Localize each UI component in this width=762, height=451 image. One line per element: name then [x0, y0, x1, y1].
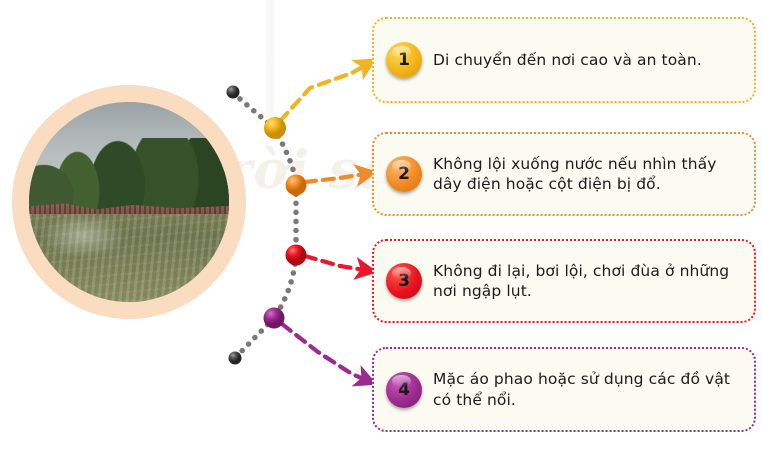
tip-number-badge-1: 1	[386, 42, 422, 78]
infographic-canvas: trời sáng tạo	[0, 0, 762, 451]
arrow-to-item-1	[280, 62, 371, 121]
arrow-to-item-4	[282, 324, 371, 382]
tip-card-3[interactable]: 3 Không đi lại, bơi lội, chơi đùa ở nhữn…	[372, 239, 756, 323]
tip-text-2: Không lội xuống nước nếu nhìn thấy dây đ…	[433, 154, 740, 195]
chain-node-4	[264, 308, 285, 329]
tip-number-badge-4: 4	[386, 372, 422, 408]
tip-number-badge-3: 3	[386, 263, 422, 299]
tip-card-2[interactable]: 2 Không lội xuống nước nếu nhìn thấy dây…	[372, 132, 756, 216]
tip-card-1[interactable]: 1 Di chuyển đến nơi cao và an toàn.	[372, 17, 756, 103]
tip-text-1: Di chuyển đến nơi cao và an toàn.	[433, 50, 702, 70]
chain-endpoint-top-node	[227, 86, 240, 99]
chain-node-1	[264, 117, 286, 139]
tip-text-4: Mặc áo phao hoặc sử dụng các đồ vật có t…	[433, 369, 740, 410]
arrow-to-item-2	[305, 173, 371, 182]
chain-node-2	[286, 175, 307, 196]
chain-node-3	[286, 245, 307, 266]
chain-endpoint-bottom-node	[229, 352, 242, 365]
arrow-to-item-3	[305, 256, 371, 271]
tip-text-3: Không đi lại, bơi lội, chơi đùa ở những …	[433, 261, 740, 302]
tip-card-4[interactable]: 4 Mặc áo phao hoặc sử dụng các đồ vật có…	[372, 347, 756, 432]
tip-number-badge-2: 2	[386, 156, 422, 192]
